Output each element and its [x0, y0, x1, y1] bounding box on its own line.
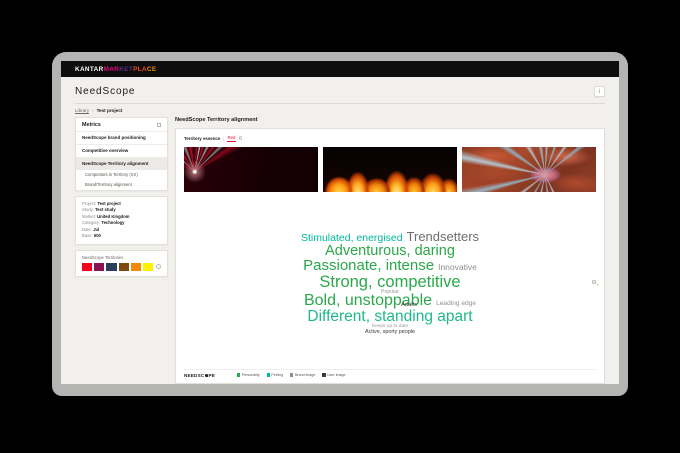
legend-swatch-feeling: [267, 373, 270, 376]
territory-swatch-navy[interactable]: [106, 263, 116, 271]
word-cloud-line: Different, standing apart: [307, 309, 472, 325]
legend-label-brand-image: Brand image: [295, 373, 315, 377]
meta-key-study: Study:: [82, 207, 94, 212]
meta-value-study: Test study: [95, 207, 116, 212]
main-title: NeedScope Territory alignment: [175, 117, 605, 123]
more-territories-icon[interactable]: [156, 264, 161, 269]
legend-item-feeling: Feeling: [267, 373, 284, 377]
word-adventurous-daring[interactable]: Adventurous, daring: [325, 244, 455, 259]
breadcrumb-current: Test project: [97, 108, 123, 113]
magnify-icon-handle: [596, 284, 598, 286]
metrics-title: Metrics: [82, 122, 101, 128]
legend-swatch-brand-image: [290, 373, 293, 376]
territory-swatch-brown[interactable]: [119, 263, 129, 271]
meta-value-project: Test project: [97, 201, 120, 206]
header-divider: [75, 103, 605, 104]
kantar-marketplace-logo[interactable]: KANTARMARKETPLACE: [75, 66, 156, 73]
word-cloud-line: Passionate, intense Innovative: [303, 258, 477, 273]
needscope-logo-post: PE: [209, 373, 216, 378]
meta-value-category: Technology: [101, 220, 124, 225]
territory-swatch-yellow[interactable]: [143, 263, 153, 271]
word-innovative[interactable]: Innovative: [438, 263, 477, 272]
legend-swatch-user-image: [322, 373, 325, 376]
meta-key-market: Market:: [82, 214, 96, 219]
word-cloud-line: Bold, unstoppable Leading edge: [304, 293, 476, 309]
red-light-streaks-image[interactable]: [184, 147, 318, 192]
territory-image-row: [184, 147, 596, 192]
sidebar: Metrics NeedScope brand positioning Comp…: [75, 117, 168, 384]
app-header: NeedScope i: [75, 77, 605, 103]
territory-alignment-panel: Territory essence | Red: [175, 128, 605, 384]
meta-value-base: 500: [94, 233, 101, 238]
collapse-panel-icon[interactable]: [157, 123, 161, 127]
word-cloud-line: Strong, competitive: [319, 274, 460, 291]
marketplace-wordmark: MAR: [104, 66, 120, 73]
app-container: NeedScope i Library › Test project: [61, 77, 619, 384]
legend-item-brand-image: Brand image: [290, 373, 315, 377]
metrics-header: Metrics: [76, 118, 167, 131]
word-cloud-legend: Personality Feeling Brand image: [237, 373, 345, 377]
territory-swatch-purple[interactable]: [94, 263, 104, 271]
marketplace-wordmark-2: KET: [119, 66, 133, 73]
breadcrumb: Library › Test project: [75, 108, 605, 113]
word-different-standing-apart[interactable]: Different, standing apart: [307, 309, 472, 325]
panel-footer: NEEDSCPE Personality Feelin: [184, 369, 596, 378]
needscope-logo: NEEDSCPE: [184, 373, 215, 378]
needscope-logo-pre: NEEDSC: [184, 373, 204, 378]
territory-essence-value[interactable]: Red: [227, 135, 235, 142]
fire-flames-image[interactable]: [323, 147, 457, 192]
sidebar-subitem-brand-territory-alignment[interactable]: Brand/Territory alignment: [76, 180, 167, 190]
territory-swatch-orange[interactable]: [131, 263, 141, 271]
word-cloud-line: Active, sporty people: [365, 330, 415, 336]
device-mockup-frame: KANTARMARKETPLACE NeedScope i Library › …: [52, 52, 628, 396]
device-screen: KANTARMARKETPLACE NeedScope i Library › …: [61, 61, 619, 384]
word-cloud: Stimulated, energised Trendsetters Adven…: [184, 199, 596, 369]
legend-label-feeling: Feeling: [271, 373, 283, 377]
main-content: NeedScope Territory alignment Territory …: [175, 117, 605, 384]
information-icon[interactable]: i: [594, 86, 605, 97]
territory-essence-divider: |: [223, 136, 224, 141]
word-trendsetters[interactable]: Trendsetters: [407, 230, 480, 243]
meta-key-category: Category:: [82, 220, 100, 225]
sidebar-item-territory-alignment[interactable]: NeedScope Territory alignment: [76, 157, 167, 170]
meta-row: Base: 500: [82, 233, 161, 240]
territories-card: NeedScope Territories: [75, 250, 168, 277]
screenshot-root: KANTARMARKETPLACE NeedScope i Library › …: [0, 0, 680, 453]
word-active-sporty-people[interactable]: Active, sporty people: [365, 330, 415, 336]
word-passionate-intense[interactable]: Passionate, intense: [303, 258, 434, 273]
kantar-wordmark: KANTAR: [75, 66, 104, 73]
body-split: Metrics NeedScope brand positioning Comp…: [75, 117, 605, 384]
page-title: NeedScope: [75, 86, 135, 97]
word-stimulated-energised[interactable]: Stimulated, energised: [301, 233, 403, 244]
legend-label-user-image: User image: [327, 373, 345, 377]
meta-key-project: Project:: [82, 201, 96, 206]
territory-essence-row: Territory essence | Red: [184, 135, 596, 142]
marketplace-wordmark-4: CE: [147, 66, 157, 73]
territory-swatches: [82, 263, 161, 271]
legend-item-personality: Personality: [237, 373, 260, 377]
territory-essence-label: Territory essence: [184, 136, 220, 141]
word-cloud-line: Adventurous, daring: [325, 244, 455, 259]
sidebar-item-brand-positioning[interactable]: NeedScope brand positioning: [76, 131, 167, 144]
meta-value-market: United Kingdom: [97, 214, 129, 219]
sidebar-item-competitive-overview[interactable]: Competitive overview: [76, 144, 167, 157]
breadcrumb-link-library[interactable]: Library: [75, 108, 89, 113]
sidebar-subitem-competitors-in-territory[interactable]: Competitors in Territory (XX): [76, 170, 167, 180]
legend-swatch-personality: [237, 373, 240, 376]
breadcrumb-separator: ›: [92, 108, 94, 113]
legend-item-user-image: User image: [322, 373, 345, 377]
legend-label-personality: Personality: [242, 373, 260, 377]
top-brand-bar: KANTARMARKETPLACE: [61, 61, 619, 77]
meta-key-date: Date:: [82, 227, 92, 232]
word-cloud-line: Stimulated, energised Trendsetters: [301, 230, 479, 244]
word-strong-competitive[interactable]: Strong, competitive: [319, 274, 460, 291]
metrics-card: Metrics NeedScope brand positioning Comp…: [75, 117, 168, 191]
essence-radio-icon[interactable]: [239, 136, 242, 139]
territories-title: NeedScope Territories: [82, 255, 161, 260]
information-icon-label: i: [599, 89, 600, 95]
blue-thistle-flower-image[interactable]: [462, 147, 596, 192]
territory-swatch-red[interactable]: [82, 263, 92, 271]
word-leading-edge[interactable]: Leading edge: [436, 301, 476, 308]
meta-key-base: Base:: [82, 233, 93, 238]
magnify-icon[interactable]: [592, 280, 598, 286]
project-meta-card: Project: Test project Study: Test study …: [75, 196, 168, 245]
marketplace-wordmark-3: PLA: [133, 66, 147, 73]
meta-value-date: Jul: [93, 227, 99, 232]
